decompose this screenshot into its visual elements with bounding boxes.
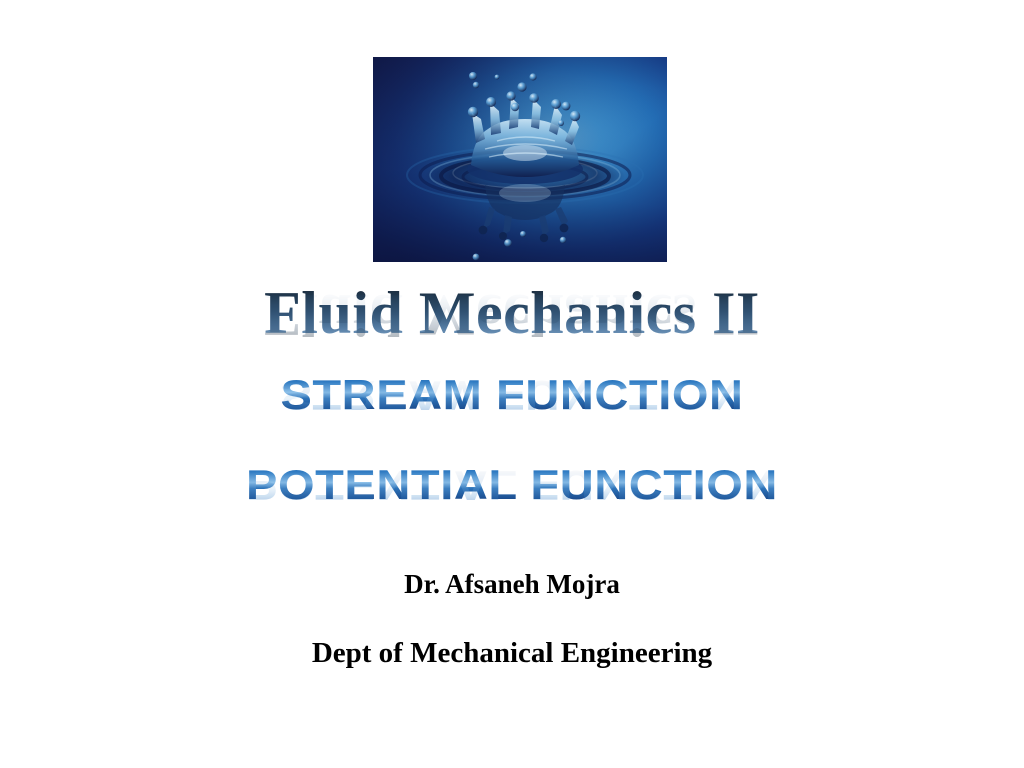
subtitle-line-2: POTENTIAL FUNCTION: [0, 464, 1024, 506]
subtitle-line-2-group: POTENTIAL FUNCTION POTENTIAL FUNCTION: [0, 464, 1024, 548]
slide-title: Fluid Mechanics II: [0, 283, 1024, 343]
water-splash-image: [373, 57, 667, 262]
author-department: Dept of Mechanical Engineering: [0, 637, 1024, 670]
slide-subtitle-block: STREAM FUNCTION STREAM FUNCTION POTENTIA…: [0, 374, 1024, 548]
water-splash-illustration: [373, 57, 667, 262]
subtitle-line-1: STREAM FUNCTION: [0, 374, 1024, 416]
presentation-title-slide: Fluid Mechanics II Fluid Mechanics II ST…: [0, 0, 1024, 768]
subtitle-line-1-group: STREAM FUNCTION STREAM FUNCTION: [0, 374, 1024, 458]
author-name: Dr. Afsaneh Mojra: [0, 569, 1024, 600]
